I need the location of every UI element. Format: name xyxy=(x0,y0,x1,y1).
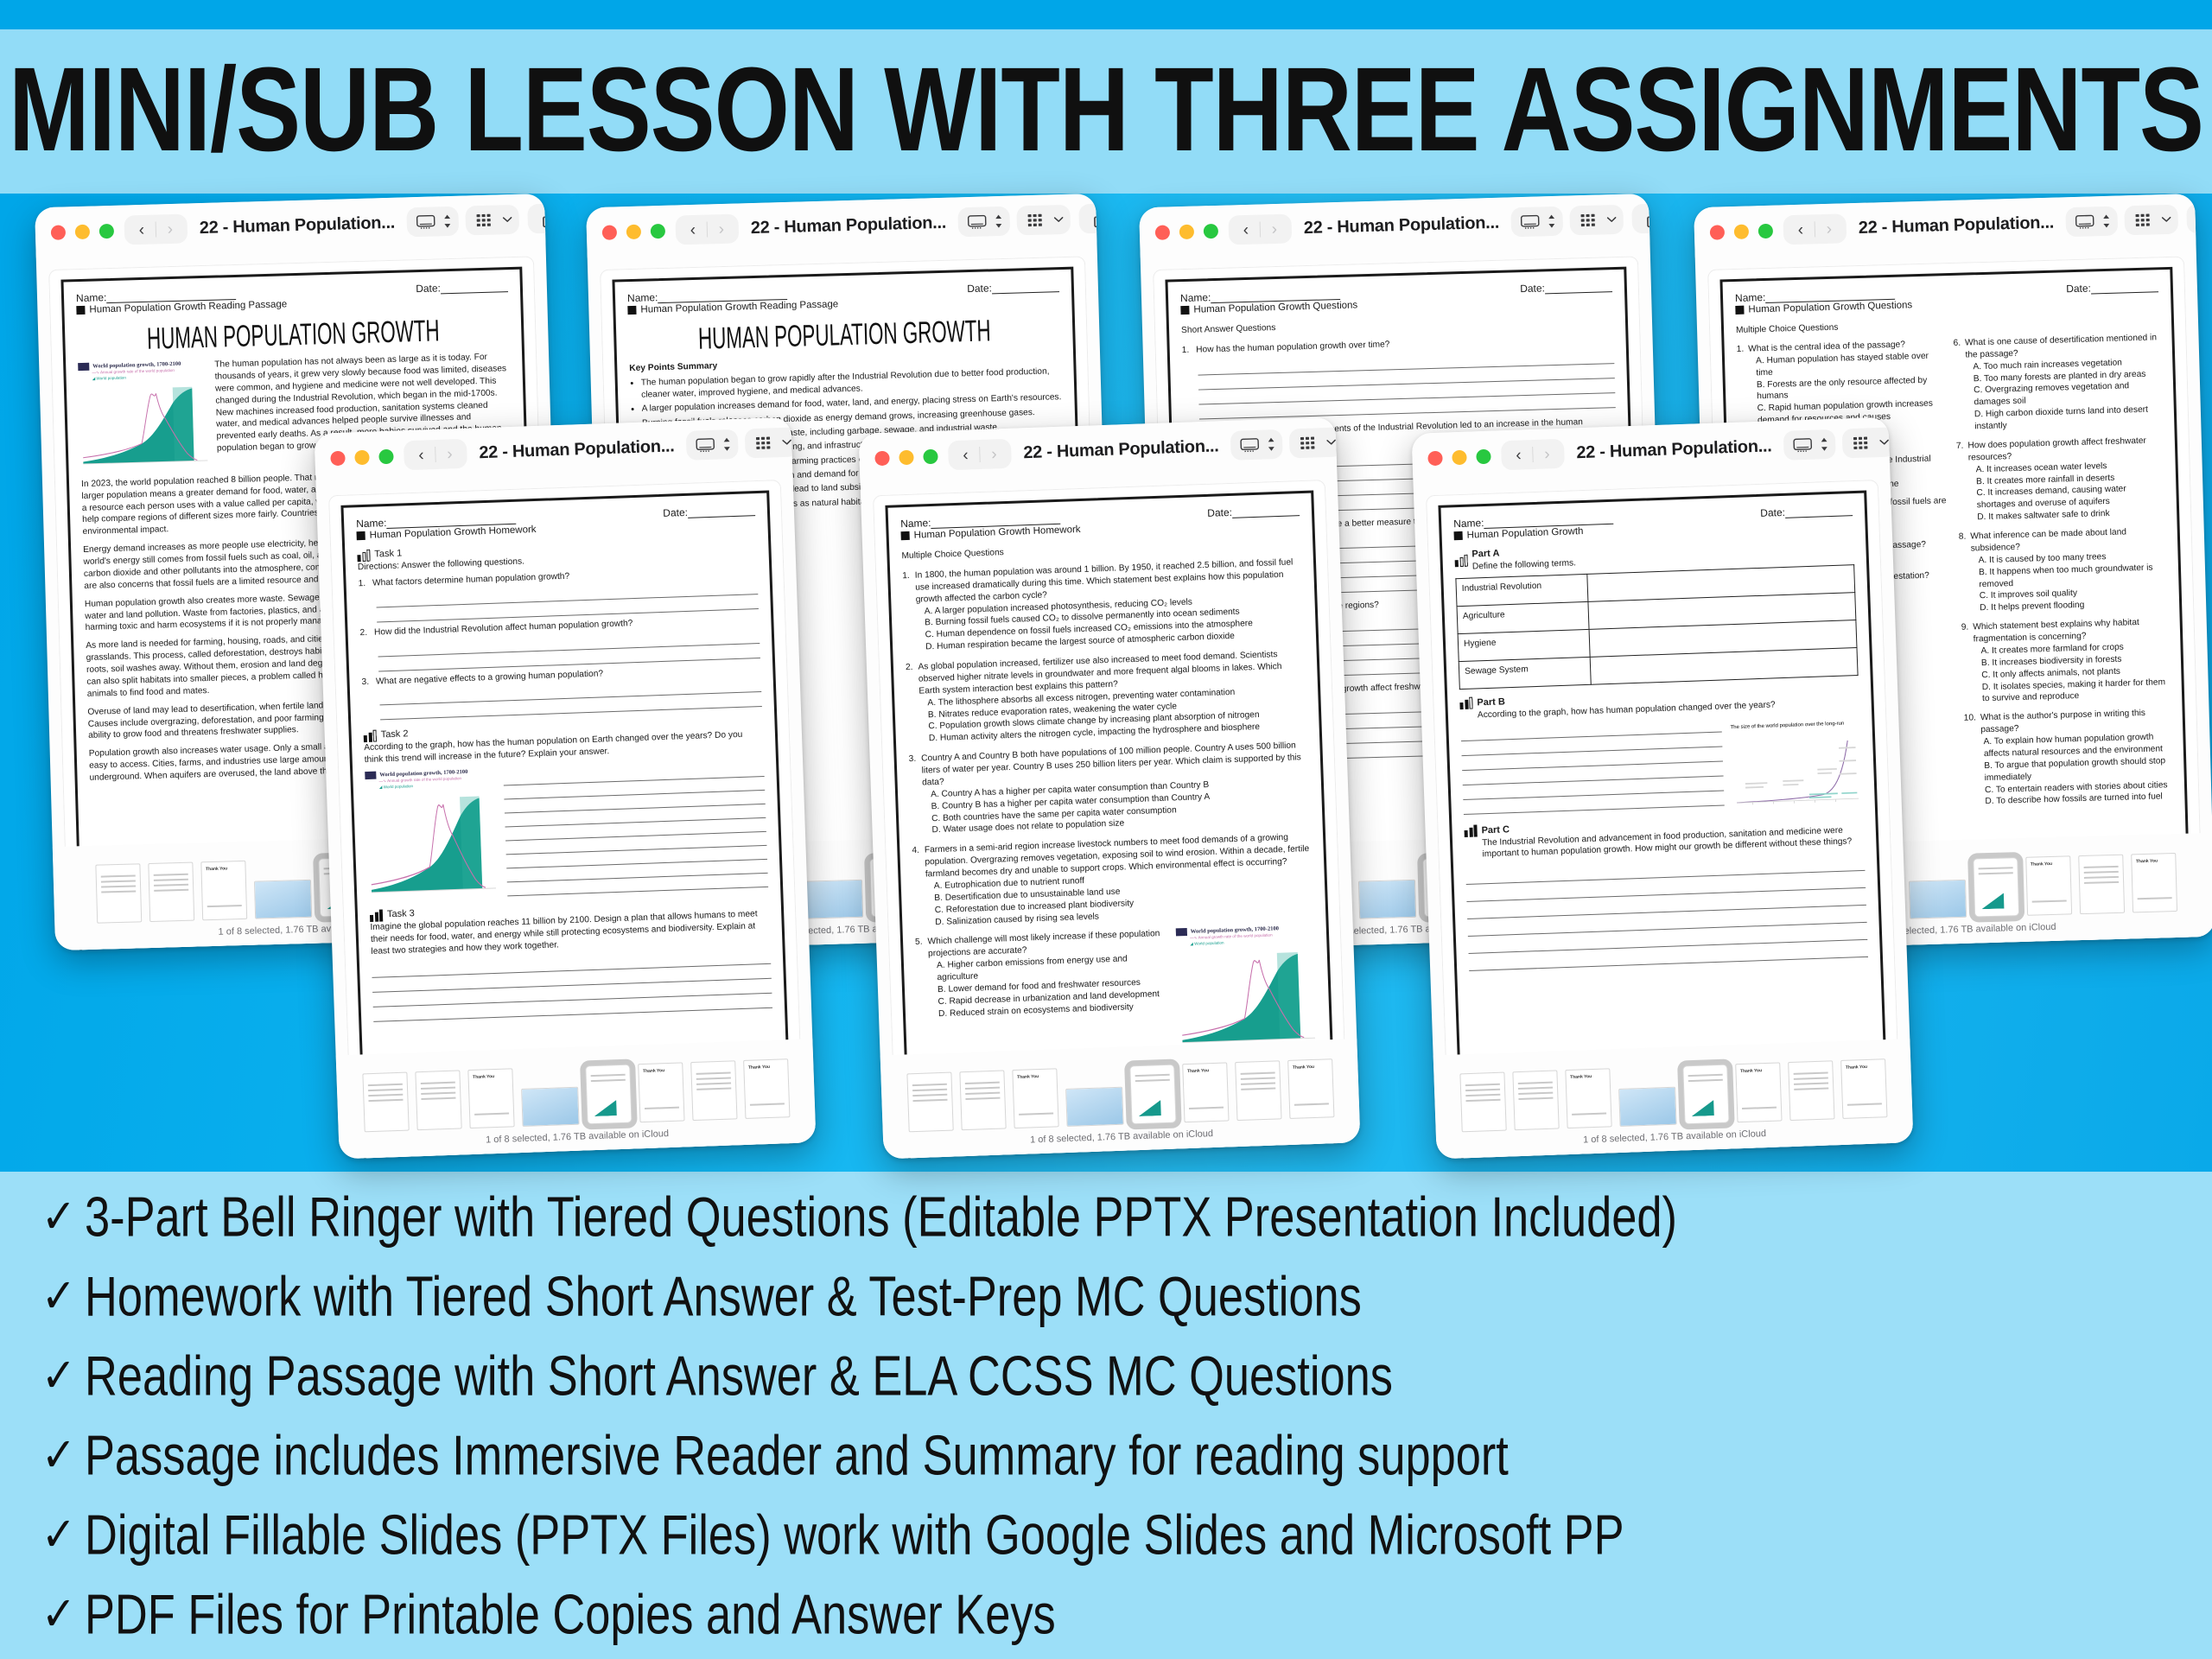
date-label: Date: xyxy=(1520,282,1545,295)
question-block: 9.Which statement best explains why habi… xyxy=(1961,616,2171,706)
nav-divider xyxy=(156,221,157,237)
thumbnail[interactable] xyxy=(1512,1070,1559,1130)
grid-view-group[interactable] xyxy=(1569,205,1624,236)
question-block: 5.Which challenge will most likely incre… xyxy=(915,928,1170,1020)
window-statusbar: Thank YouThank YouThank You 1 of 8 selec… xyxy=(336,1039,817,1159)
nav-divider xyxy=(707,221,709,237)
view-mode-icon[interactable] xyxy=(412,210,441,233)
name-label: Name: xyxy=(900,517,931,530)
back-button[interactable]: ‹ xyxy=(1790,221,1812,238)
minimize-button[interactable] xyxy=(354,449,370,465)
feature-item-2: ✓ Homework with Tiered Short Answer & Te… xyxy=(33,1263,2193,1343)
thumbnail[interactable] xyxy=(690,1060,737,1121)
navigation-group[interactable]: ‹ › xyxy=(1501,439,1565,471)
minimize-button[interactable] xyxy=(626,224,641,238)
close-button[interactable] xyxy=(1710,225,1725,239)
updown-stepper-icon[interactable] xyxy=(721,433,734,455)
thumbnail[interactable]: Thank You xyxy=(638,1062,684,1122)
back-button[interactable]: ‹ xyxy=(1508,447,1529,464)
thumbnail[interactable]: Thank You xyxy=(1565,1068,1611,1128)
updown-stepper-icon[interactable] xyxy=(1265,433,1278,455)
question-block: 10.What is the author's purpose in writi… xyxy=(1964,707,2173,809)
grid-view-icon[interactable] xyxy=(2130,208,2158,232)
square-bullet-icon xyxy=(1735,306,1744,315)
choice[interactable]: D. High carbon dioxide turns land into d… xyxy=(1974,404,2163,433)
top-edge-band xyxy=(0,0,2212,29)
forward-button[interactable]: › xyxy=(983,446,1005,463)
question-block: 3.Country A and Country B both have popu… xyxy=(908,740,1310,837)
window-homework-tasks[interactable]: ‹ › 22 - Human Population... Name: Date:… xyxy=(315,417,817,1160)
thumbnail[interactable]: Thank You xyxy=(1735,1062,1782,1122)
grid-view-icon[interactable] xyxy=(750,431,779,454)
grid-view-group[interactable] xyxy=(2124,205,2178,236)
question-block: 1.How has the human population growth ov… xyxy=(1182,333,1616,420)
thumbnail[interactable] xyxy=(2078,855,2125,914)
graph-caption: The size of the world population over th… xyxy=(1730,721,1844,730)
question-block: 1.What factors determine human populatio… xyxy=(358,564,759,623)
grid-view-icon[interactable] xyxy=(1575,208,1604,232)
name-label: Name: xyxy=(1735,291,1766,304)
thumbnail-strip[interactable]: Thank YouThank YouThank You xyxy=(362,1053,790,1132)
question-block: 2.How did the Industrial Revolution affe… xyxy=(359,613,760,672)
close-button[interactable] xyxy=(1427,450,1443,466)
minimize-button[interactable] xyxy=(899,449,914,465)
date-label: Date: xyxy=(1760,506,1785,519)
square-bullet-icon xyxy=(1180,306,1189,315)
thumbnail[interactable] xyxy=(362,1072,409,1133)
doc-title: HUMAN POPULATION GROWTH xyxy=(107,312,480,359)
close-button[interactable] xyxy=(1155,225,1170,239)
feature-list: ✓ 3-Part Bell Ringer with Tiered Questio… xyxy=(33,1184,2193,1659)
bar-chart-icon xyxy=(357,550,370,563)
name-label: Name: xyxy=(1453,517,1484,530)
question-block: 2.As global population increased, fertil… xyxy=(906,648,1307,746)
term-cell: Industrial Revolution xyxy=(1456,574,1588,606)
maximize-button[interactable] xyxy=(1476,448,1491,464)
thumbnail[interactable] xyxy=(1235,1060,1281,1121)
question-block: 7.How does population growth affect fres… xyxy=(1956,435,2165,524)
grid-view-icon[interactable] xyxy=(1022,208,1051,232)
thumbnail[interactable] xyxy=(95,863,142,923)
chart-logo-icon xyxy=(1176,928,1187,936)
navigation-group[interactable]: ‹ › xyxy=(1228,213,1292,245)
view-mode-group[interactable] xyxy=(406,207,459,238)
question-block: 3.What are negative effects to a growing… xyxy=(361,663,762,721)
updown-stepper-icon[interactable] xyxy=(442,210,454,232)
forward-button[interactable]: › xyxy=(160,220,181,238)
view-mode-icon[interactable] xyxy=(963,210,992,233)
thumbnail[interactable]: Thank You xyxy=(200,861,247,920)
thumbnail-strip[interactable]: Thank YouThank YouThank You xyxy=(906,1053,1334,1132)
traffic-lights[interactable] xyxy=(51,223,114,239)
maximize-button[interactable] xyxy=(651,223,665,238)
updown-stepper-icon[interactable] xyxy=(2101,210,2113,232)
traffic-lights[interactable] xyxy=(1710,223,1773,239)
square-bullet-icon xyxy=(900,531,909,540)
feature-item-5: ✓ Digital Fillable Slides (PPTX Files) w… xyxy=(33,1502,2193,1581)
window-title: 22 - Human Population... xyxy=(1859,213,2055,238)
close-button[interactable] xyxy=(330,450,346,466)
date-label: Date: xyxy=(416,282,441,295)
nav-divider xyxy=(979,447,981,462)
poster-canvas: MINI/SUB LESSON WITH THREE ASSIGNMENTS ‹… xyxy=(0,0,2212,1659)
thumbnail[interactable] xyxy=(1788,1060,1834,1121)
thumbnail[interactable] xyxy=(1908,880,1966,919)
thumbnail[interactable] xyxy=(1357,880,1415,919)
chart-legend: —∿ Annual growth rate of the world popul… xyxy=(92,367,207,383)
feature-item-1: ✓ 3-Part Bell Ringer with Tiered Questio… xyxy=(33,1184,2193,1263)
minimize-button[interactable] xyxy=(75,224,90,238)
square-bullet-icon xyxy=(356,531,365,540)
date-input[interactable] xyxy=(2091,282,2158,294)
close-button[interactable] xyxy=(51,225,66,239)
window-title: 22 - Human Population... xyxy=(1576,436,1772,463)
nav-divider xyxy=(1260,221,1262,237)
thumbnail[interactable] xyxy=(959,1070,1006,1130)
grid-view-icon[interactable] xyxy=(471,208,499,232)
updown-stepper-icon[interactable] xyxy=(1546,210,1559,232)
forward-button[interactable]: › xyxy=(1819,220,1840,238)
chart-logo-icon xyxy=(78,363,89,371)
thumbnail[interactable]: Thank You xyxy=(2025,855,2072,915)
answer-lines[interactable] xyxy=(503,758,768,897)
view-mode-group[interactable] xyxy=(686,429,739,461)
thumbnail[interactable]: Thank You xyxy=(1840,1058,1887,1119)
square-bullet-icon xyxy=(1453,531,1462,540)
window-statusbar: Thank YouThank YouThank You 1 of 8 selec… xyxy=(880,1039,1361,1159)
view-mode-icon[interactable] xyxy=(691,434,720,457)
forward-button[interactable]: › xyxy=(439,446,461,463)
grid-view-group[interactable] xyxy=(1842,427,1897,458)
updown-stepper-icon[interactable] xyxy=(993,210,1006,232)
chevron-down-icon[interactable] xyxy=(1605,208,1619,231)
window-bell-ringer[interactable]: ‹ › 22 - Human Population... Name: Date:… xyxy=(1412,417,1914,1160)
thumbnail[interactable] xyxy=(1459,1072,1506,1133)
window-title: 22 - Human Population... xyxy=(1304,213,1500,238)
nav-divider xyxy=(435,447,436,462)
date-input[interactable] xyxy=(992,282,1059,294)
population-chart: World population growth, 1700-2100 —∿ An… xyxy=(365,767,499,902)
back-button[interactable]: ‹ xyxy=(955,447,976,464)
check-icon: ✓ xyxy=(33,1576,85,1654)
date-label: Date: xyxy=(663,506,688,519)
bar-chart-icon xyxy=(370,909,383,922)
back-button[interactable]: ‹ xyxy=(683,221,704,238)
thumbnail-selected[interactable] xyxy=(1973,857,2019,917)
date-input[interactable] xyxy=(1545,282,1612,294)
bar-chart-icon xyxy=(1459,696,1472,709)
maximize-button[interactable] xyxy=(923,448,938,464)
check-icon: ✓ xyxy=(33,1338,85,1415)
thumbnail[interactable] xyxy=(253,880,311,919)
task-label: Task 1 xyxy=(374,547,402,561)
forward-button[interactable]: › xyxy=(1536,446,1558,463)
date-label: Date: xyxy=(2066,282,2091,295)
maximize-button[interactable] xyxy=(378,448,394,464)
chart-plot xyxy=(365,789,499,897)
term-cell: Hygiene xyxy=(1458,629,1590,661)
back-button[interactable]: ‹ xyxy=(1236,221,1257,238)
feature-text: Reading Passage with Short Answer & ELA … xyxy=(85,1336,1393,1417)
grid-view-group[interactable] xyxy=(1016,205,1071,236)
thumbnail-strip[interactable]: Thank YouThank YouThank You xyxy=(1459,1053,1887,1132)
forward-button[interactable]: › xyxy=(711,220,733,238)
chart-title-row: The size of the world population over th… xyxy=(1730,713,1860,733)
window-title: 22 - Human Population... xyxy=(200,213,396,238)
definition-table: Industrial Revolution Agriculture Hygien… xyxy=(1455,564,1858,690)
status-text: 1 of 8 selected, 1.76 TB available on iC… xyxy=(1030,1128,1213,1145)
close-button[interactable] xyxy=(602,225,617,239)
thumbnail[interactable]: Thank You xyxy=(467,1068,514,1128)
navigation-group[interactable]: ‹ › xyxy=(948,439,1012,471)
population-chart: World population growth, 1700-2100 —∿ An… xyxy=(1176,924,1319,1052)
view-mode-group[interactable] xyxy=(2065,207,2118,238)
thumbnail[interactable]: Thank You xyxy=(743,1058,790,1119)
feature-item-3: ✓ Reading Passage with Short Answer & EL… xyxy=(33,1343,2193,1422)
navigation-group[interactable]: ‹ › xyxy=(675,213,739,245)
thumbnail[interactable]: Thank You xyxy=(1182,1062,1229,1122)
answer-lines[interactable] xyxy=(1460,717,1724,817)
answer-lines[interactable] xyxy=(1198,349,1616,419)
grid-view-group[interactable] xyxy=(465,205,519,236)
feature-item-4: ✓ Passage includes Immersive Reader and … xyxy=(33,1422,2193,1502)
feature-text: Digital Fillable Slides (PPTX Files) wor… xyxy=(85,1495,1624,1576)
minimize-button[interactable] xyxy=(1179,224,1194,238)
question-block: 1.In 1800, the human population was arou… xyxy=(902,556,1304,654)
close-button[interactable] xyxy=(874,450,890,466)
name-label: Name: xyxy=(627,291,658,304)
minimize-button[interactable] xyxy=(1452,449,1467,465)
back-button[interactable]: ‹ xyxy=(410,447,432,464)
longrun-chart: The size of the world population over th… xyxy=(1730,713,1863,808)
partB-body: The size of the world population over th… xyxy=(1460,713,1862,817)
check-icon: ✓ xyxy=(33,1179,85,1256)
feature-text: Homework with Tiered Short Answer & Test… xyxy=(85,1256,1362,1338)
name-label: Name: xyxy=(76,291,107,304)
maximize-button[interactable] xyxy=(99,223,114,238)
name-label: Name: xyxy=(356,517,387,530)
traffic-lights[interactable] xyxy=(1155,223,1218,239)
forward-button[interactable]: › xyxy=(1264,220,1286,238)
directions: Define the following terms. xyxy=(1472,557,1576,573)
nav-divider xyxy=(1532,447,1534,462)
question-block: 4.Farmers in a semi-arid region increase… xyxy=(912,831,1313,929)
view-mode-group[interactable] xyxy=(1510,207,1563,238)
feature-text: 3-Part Bell Ringer with Tiered Questions… xyxy=(85,1177,1677,1258)
traffic-lights[interactable] xyxy=(602,223,665,239)
chart-plot xyxy=(79,381,211,467)
chevron-down-icon[interactable] xyxy=(1052,208,1066,231)
thumbnail[interactable] xyxy=(906,1072,953,1133)
view-mode-icon[interactable] xyxy=(1516,210,1545,233)
chevron-down-icon[interactable] xyxy=(2159,208,2174,231)
maximize-button[interactable] xyxy=(1204,223,1218,238)
thumbnail-selected[interactable] xyxy=(1129,1065,1176,1125)
square-bullet-icon xyxy=(627,306,636,315)
task-label: Task 2 xyxy=(380,728,408,742)
date-input[interactable] xyxy=(441,282,508,294)
task2-body: World population growth, 1700-2100 —∿ An… xyxy=(365,758,768,902)
view-mode-group[interactable] xyxy=(1783,429,1836,461)
feature-item-6: ✓ PDF Files for Printable Copies and Ans… xyxy=(33,1581,2193,1659)
maximize-button[interactable] xyxy=(1758,223,1773,238)
thumbnail[interactable] xyxy=(804,880,862,919)
traffic-lights[interactable] xyxy=(1427,448,1491,466)
window-statusbar: Thank YouThank YouThank You 1 of 8 selec… xyxy=(1433,1039,1914,1159)
thumbnail[interactable] xyxy=(521,1087,579,1127)
grid-view-icon[interactable] xyxy=(1847,431,1876,454)
updown-stepper-icon[interactable] xyxy=(1818,433,1831,455)
page-title: MINI/SUB LESSON WITH THREE ASSIGNMENTS xyxy=(0,40,2212,178)
chart-plot xyxy=(1177,945,1319,1047)
view-mode-group[interactable] xyxy=(957,207,1010,238)
grid-view-icon[interactable] xyxy=(1294,431,1323,454)
thumbnail[interactable]: Thank You xyxy=(2131,853,2177,912)
choice[interactable]: D. It isolates species, making it harder… xyxy=(1982,677,2171,706)
grid-view-group[interactable] xyxy=(1289,427,1344,458)
navigation-group[interactable]: ‹ › xyxy=(404,439,467,471)
task-label: Task 3 xyxy=(387,907,415,921)
answer-lines[interactable] xyxy=(1465,854,1868,971)
thumbnail[interactable]: Thank You xyxy=(1012,1068,1058,1128)
traffic-lights[interactable] xyxy=(330,448,394,466)
thumbnail[interactable] xyxy=(415,1070,461,1130)
window-title: 22 - Human Population... xyxy=(751,213,947,238)
bar-chart-icon xyxy=(1454,555,1467,568)
name-label: Name: xyxy=(1180,291,1211,304)
bar-chart-icon xyxy=(364,730,377,743)
view-mode-icon[interactable] xyxy=(1789,434,1817,457)
feature-text: Passage includes Immersive Reader and Su… xyxy=(85,1415,1509,1497)
mc-column-right: 6.What is one cause of desertification m… xyxy=(1953,332,2172,816)
traffic-lights[interactable] xyxy=(874,448,938,466)
partC-header: Part C The Industrial Revolution and adv… xyxy=(1464,811,1864,862)
answer-lines[interactable] xyxy=(372,949,772,1021)
last-question-with-chart: 5.Which challenge will most likely incre… xyxy=(915,915,1319,1061)
check-icon: ✓ xyxy=(33,1258,85,1336)
check-icon: ✓ xyxy=(33,1497,85,1574)
question-block: 6.What is one cause of desertification m… xyxy=(1953,332,2162,434)
thumbnail[interactable]: Thank You xyxy=(1287,1058,1334,1119)
navigation-group[interactable]: ‹ › xyxy=(1783,213,1847,245)
thumbnail-selected[interactable] xyxy=(585,1065,632,1125)
term-cell: Sewage System xyxy=(1459,657,1591,689)
section-heading: Short Answer Questions xyxy=(1181,313,1613,337)
nav-divider xyxy=(1815,221,1816,237)
thumbnail[interactable] xyxy=(1065,1087,1123,1127)
grid-view-group[interactable] xyxy=(745,427,799,458)
view-mode-group[interactable] xyxy=(1230,429,1283,461)
doc-title: HUMAN POPULATION GROWTH xyxy=(658,312,1031,359)
chart-logo-icon xyxy=(365,772,376,779)
square-bullet-icon xyxy=(76,306,85,315)
window-homework-mc[interactable]: ‹ › 22 - Human Population... Name: Date:… xyxy=(859,417,1361,1160)
population-chart: World population growth, 1700-2100 —∿ An… xyxy=(78,359,210,473)
feature-text: PDF Files for Printable Copies and Answe… xyxy=(85,1574,1056,1656)
status-text: 1 of 8 selected, 1.76 TB available on iC… xyxy=(486,1128,669,1145)
thumbnail[interactable] xyxy=(1618,1087,1676,1127)
navigation-group[interactable]: ‹ › xyxy=(124,213,188,245)
view-mode-icon[interactable] xyxy=(1236,434,1264,457)
bar-chart-icon xyxy=(1464,824,1477,837)
status-text: 1 of 8 selected, 1.76 TB available on iC… xyxy=(1583,1128,1766,1145)
chevron-down-icon[interactable] xyxy=(500,208,515,231)
window-title: 22 - Human Population... xyxy=(479,436,675,463)
thumbnail-selected[interactable] xyxy=(1682,1065,1729,1125)
question-block: 8.What inference can be made about land … xyxy=(1959,525,2168,615)
window-title: 22 - Human Population... xyxy=(1023,436,1219,463)
minimize-button[interactable] xyxy=(1734,224,1749,238)
view-mode-icon[interactable] xyxy=(2071,210,2100,233)
back-button[interactable]: ‹ xyxy=(131,221,153,238)
check-icon: ✓ xyxy=(33,1417,85,1495)
date-label: Date: xyxy=(967,282,992,295)
thumbnail[interactable] xyxy=(148,862,194,922)
term-cell: Agriculture xyxy=(1457,601,1589,633)
date-label: Date: xyxy=(1207,506,1232,519)
